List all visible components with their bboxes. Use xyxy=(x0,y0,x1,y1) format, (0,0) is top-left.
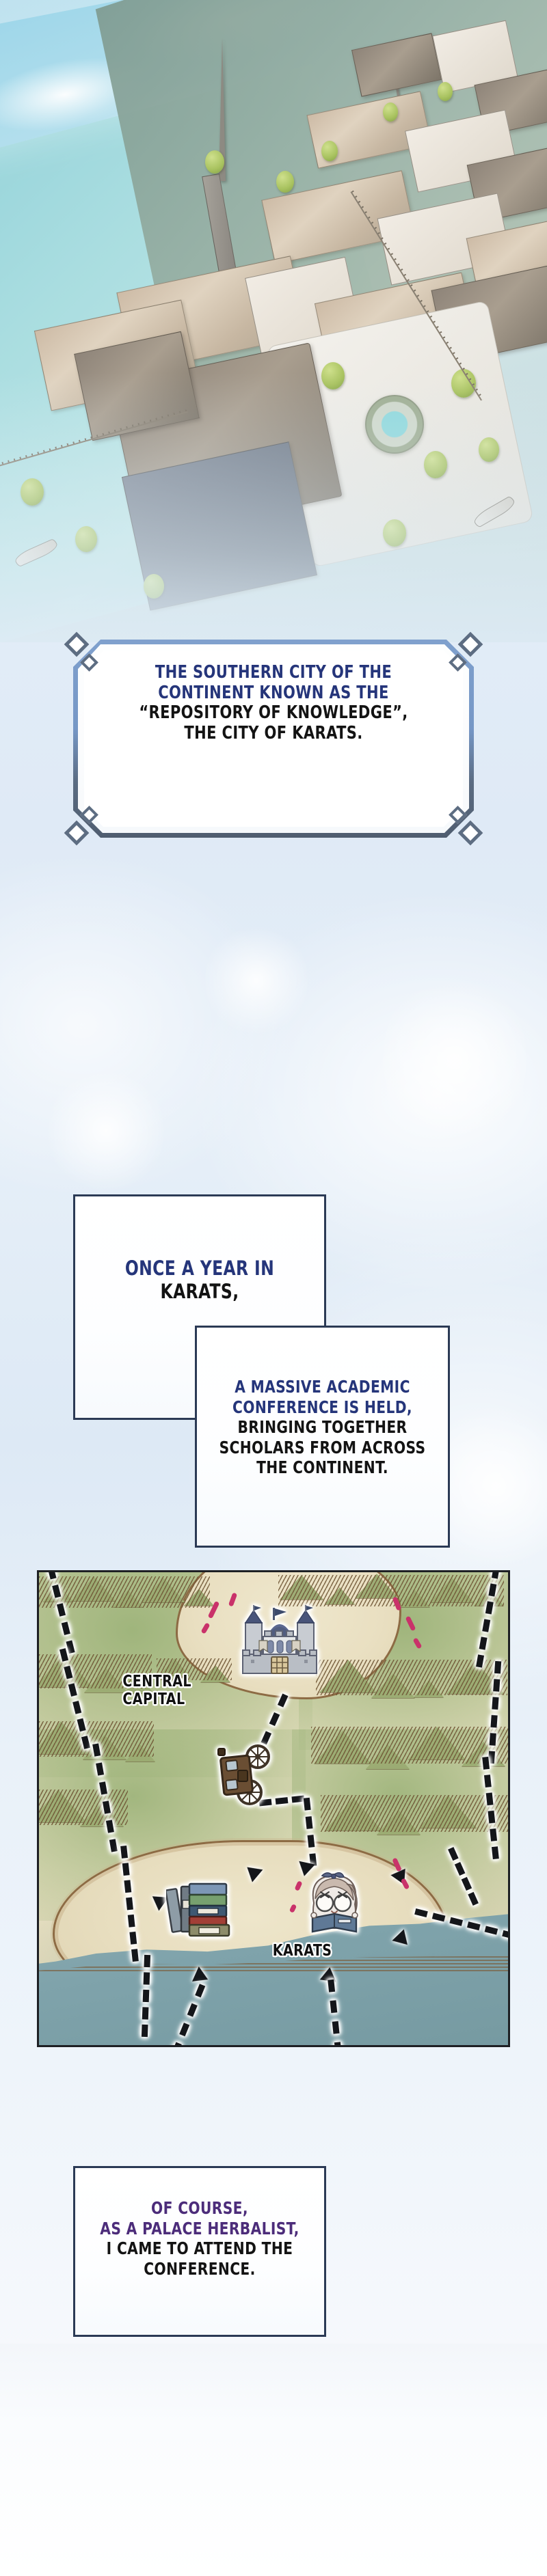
caption-line: CONFERENCE IS HELD, xyxy=(209,1397,435,1418)
caption-line: THE CONTINENT. xyxy=(209,1457,435,1478)
bg-blob xyxy=(383,970,526,1148)
label-line: KARATS xyxy=(273,1943,332,1960)
caption-once-a-year-text: ONCE A YEAR IN KARATS, xyxy=(88,1196,312,1303)
caption-line: I CAME TO ATTEND THE xyxy=(88,2238,312,2259)
caption-line: THE SOUTHERN CITY OF THE xyxy=(103,663,444,683)
caption-city-text: THE SOUTHERN CITY OF THE CONTINENT KNOWN… xyxy=(103,650,444,744)
caption-line: “REPOSITORY OF KNOWLEDGE”, xyxy=(103,703,444,724)
caption-line: AS A PALACE HERBALIST, xyxy=(88,2219,312,2239)
caption-line: SCHOLARS FROM ACROSS xyxy=(209,1438,435,1458)
castle-icon xyxy=(236,1598,323,1675)
chibi-reader-icon xyxy=(304,1872,364,1934)
caption-line: ONCE A YEAR IN xyxy=(88,1257,312,1280)
label-line: CENTRAL xyxy=(122,1673,191,1691)
caption-line: CONFERENCE. xyxy=(88,2259,312,2279)
panel-haze-overlay xyxy=(0,0,547,642)
caption-line: OF COURSE, xyxy=(88,2198,312,2219)
page-footer-space xyxy=(0,2344,547,2576)
caption-herbalist: OF COURSE, AS A PALACE HERBALIST, I CAME… xyxy=(73,2166,326,2337)
panel-fantasy-map: CENTRAL CAPITAL KARATS xyxy=(37,1570,510,2047)
label-line: CAPITAL xyxy=(122,1691,191,1709)
caption-line: THE CITY OF KARATS. xyxy=(103,724,444,744)
caption-conference-text: A MASSIVE ACADEMIC CONFERENCE IS HELD, B… xyxy=(209,1328,435,1478)
label-karats: KARATS xyxy=(273,1943,332,1960)
caption-conference: A MASSIVE ACADEMIC CONFERENCE IS HELD, B… xyxy=(195,1326,450,1548)
bg-blob xyxy=(48,1066,164,1196)
books-icon xyxy=(166,1881,235,1937)
panel-city-panorama xyxy=(0,0,547,642)
caption-line: BRINGING TOGETHER xyxy=(209,1417,435,1438)
caption-city: THE SOUTHERN CITY OF THE CONTINENT KNOWN… xyxy=(73,640,474,838)
caption-line: KARATS, xyxy=(88,1280,312,1303)
caption-step-notch xyxy=(75,1401,195,1423)
caption-line: CONTINENT KNOWN AS THE xyxy=(103,683,444,704)
bg-blob xyxy=(205,922,308,1039)
caption-line: A MASSIVE ACADEMIC xyxy=(209,1377,435,1397)
caption-herbalist-text: OF COURSE, AS A PALACE HERBALIST, I CAME… xyxy=(88,2168,312,2279)
label-central-capital: CENTRAL CAPITAL xyxy=(122,1673,191,1709)
caption-city-inner: THE SOUTHERN CITY OF THE CONTINENT KNOWN… xyxy=(84,650,463,827)
carriage-icon xyxy=(215,1742,271,1809)
